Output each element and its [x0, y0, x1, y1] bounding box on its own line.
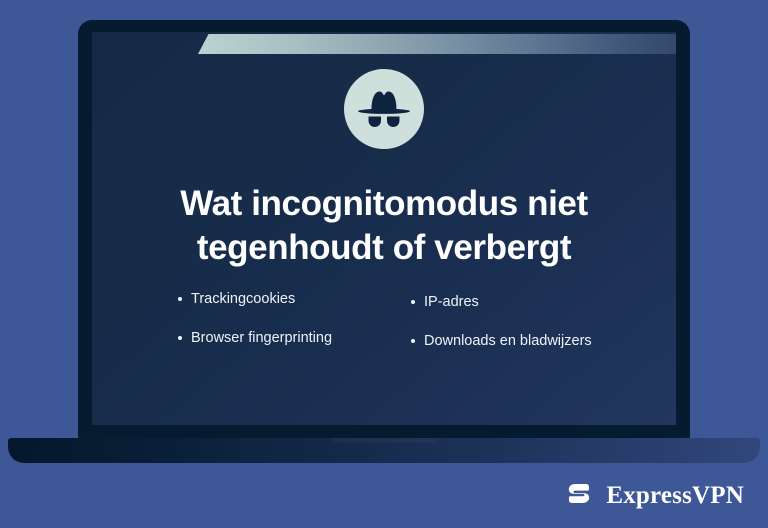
- bullet-dot-icon: [178, 297, 182, 301]
- list-item-label: Downloads en bladwijzers: [424, 333, 592, 349]
- list-item: Downloads en bladwijzers: [411, 332, 598, 351]
- expressvpn-logo-icon: [564, 479, 596, 511]
- bullet-dot-icon: [411, 300, 415, 304]
- list-item: Trackingcookies: [178, 290, 365, 309]
- slide-canvas: Wat incognitomodus niet tegenhoudt of ve…: [0, 0, 768, 528]
- list-item: IP-adres: [411, 293, 598, 312]
- incognito-icon-container: [92, 69, 676, 149]
- list-item-label: Browser fingerprinting: [191, 330, 332, 346]
- bullet-column-left: Trackingcookies Browser fingerprinting: [178, 290, 365, 351]
- laptop-screen: Wat incognitomodus niet tegenhoudt of ve…: [92, 32, 676, 425]
- bullet-column-right: IP-adres Downloads en bladwijzers: [411, 290, 598, 351]
- incognito-hat-icon: [344, 69, 424, 149]
- bullet-dot-icon: [411, 339, 415, 343]
- list-item-label: IP-adres: [424, 294, 479, 310]
- slide-heading: Wat incognitomodus niet tegenhoudt of ve…: [132, 182, 636, 270]
- list-item: Browser fingerprinting: [178, 329, 365, 348]
- bullet-dot-icon: [178, 336, 182, 340]
- list-item-label: Trackingcookies: [191, 291, 295, 307]
- heading-line-2: tegenhoudt of verbergt: [132, 226, 636, 270]
- bullet-columns: Trackingcookies Browser fingerprinting I…: [178, 290, 598, 351]
- heading-line-1: Wat incognitomodus niet: [132, 182, 636, 226]
- laptop-base-notch: [330, 438, 438, 443]
- expressvpn-branding: ExpressVPN: [564, 479, 744, 511]
- expressvpn-wordmark: ExpressVPN: [606, 483, 744, 508]
- accent-gradient-bar: [198, 34, 676, 54]
